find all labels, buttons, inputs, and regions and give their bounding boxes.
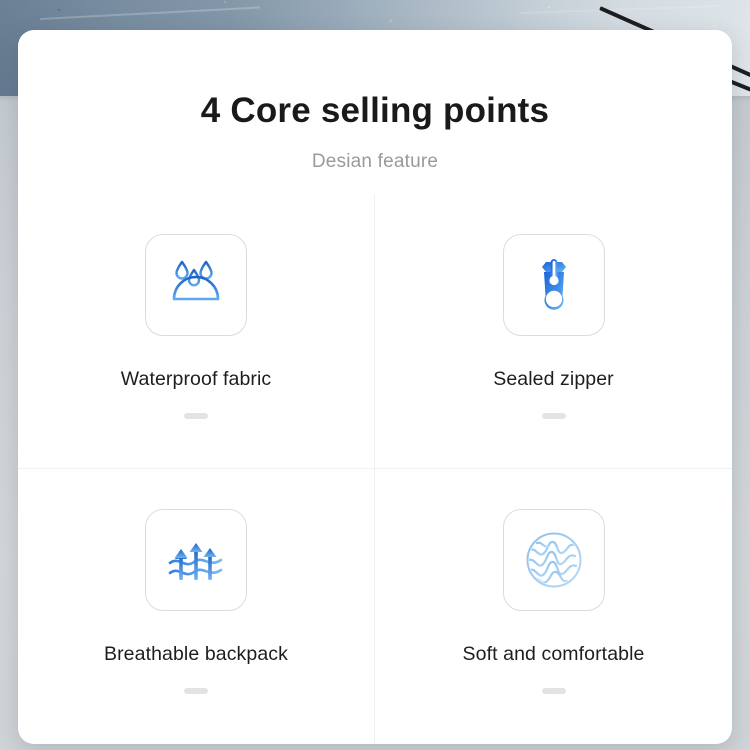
airflow-arrows-icon <box>145 509 247 611</box>
feature-item-waterproof-fabric[interactable]: Waterproof fabric <box>18 194 375 469</box>
screenshot-root: 4 Core selling points Desian feature <box>0 0 750 750</box>
wavy-circle-texture-icon <box>503 509 605 611</box>
feature-item-soft-and-comfortable[interactable]: Soft and comfortable <box>375 469 732 744</box>
umbrella-raindrops-icon <box>145 234 247 336</box>
feature-dash <box>184 413 208 419</box>
feature-item-breathable-backpack[interactable]: Breathable backpack <box>18 469 375 744</box>
feature-card: 4 Core selling points Desian feature <box>18 30 732 744</box>
feature-item-sealed-zipper[interactable]: Sealed zipper <box>375 194 732 469</box>
feature-label: Waterproof fabric <box>121 368 272 391</box>
feature-dash <box>542 413 566 419</box>
feature-grid: Waterproof fabric <box>18 194 732 744</box>
feature-label: Sealed zipper <box>493 368 614 391</box>
feature-dash <box>184 688 208 694</box>
feature-label: Soft and comfortable <box>463 643 645 666</box>
feature-label: Breathable backpack <box>104 643 288 666</box>
page-title: 4 Core selling points <box>18 92 732 131</box>
feature-dash <box>542 688 566 694</box>
card-header: 4 Core selling points Desian feature <box>18 30 732 173</box>
zipper-icon <box>503 234 605 336</box>
page-subtitle: Desian feature <box>18 151 732 173</box>
